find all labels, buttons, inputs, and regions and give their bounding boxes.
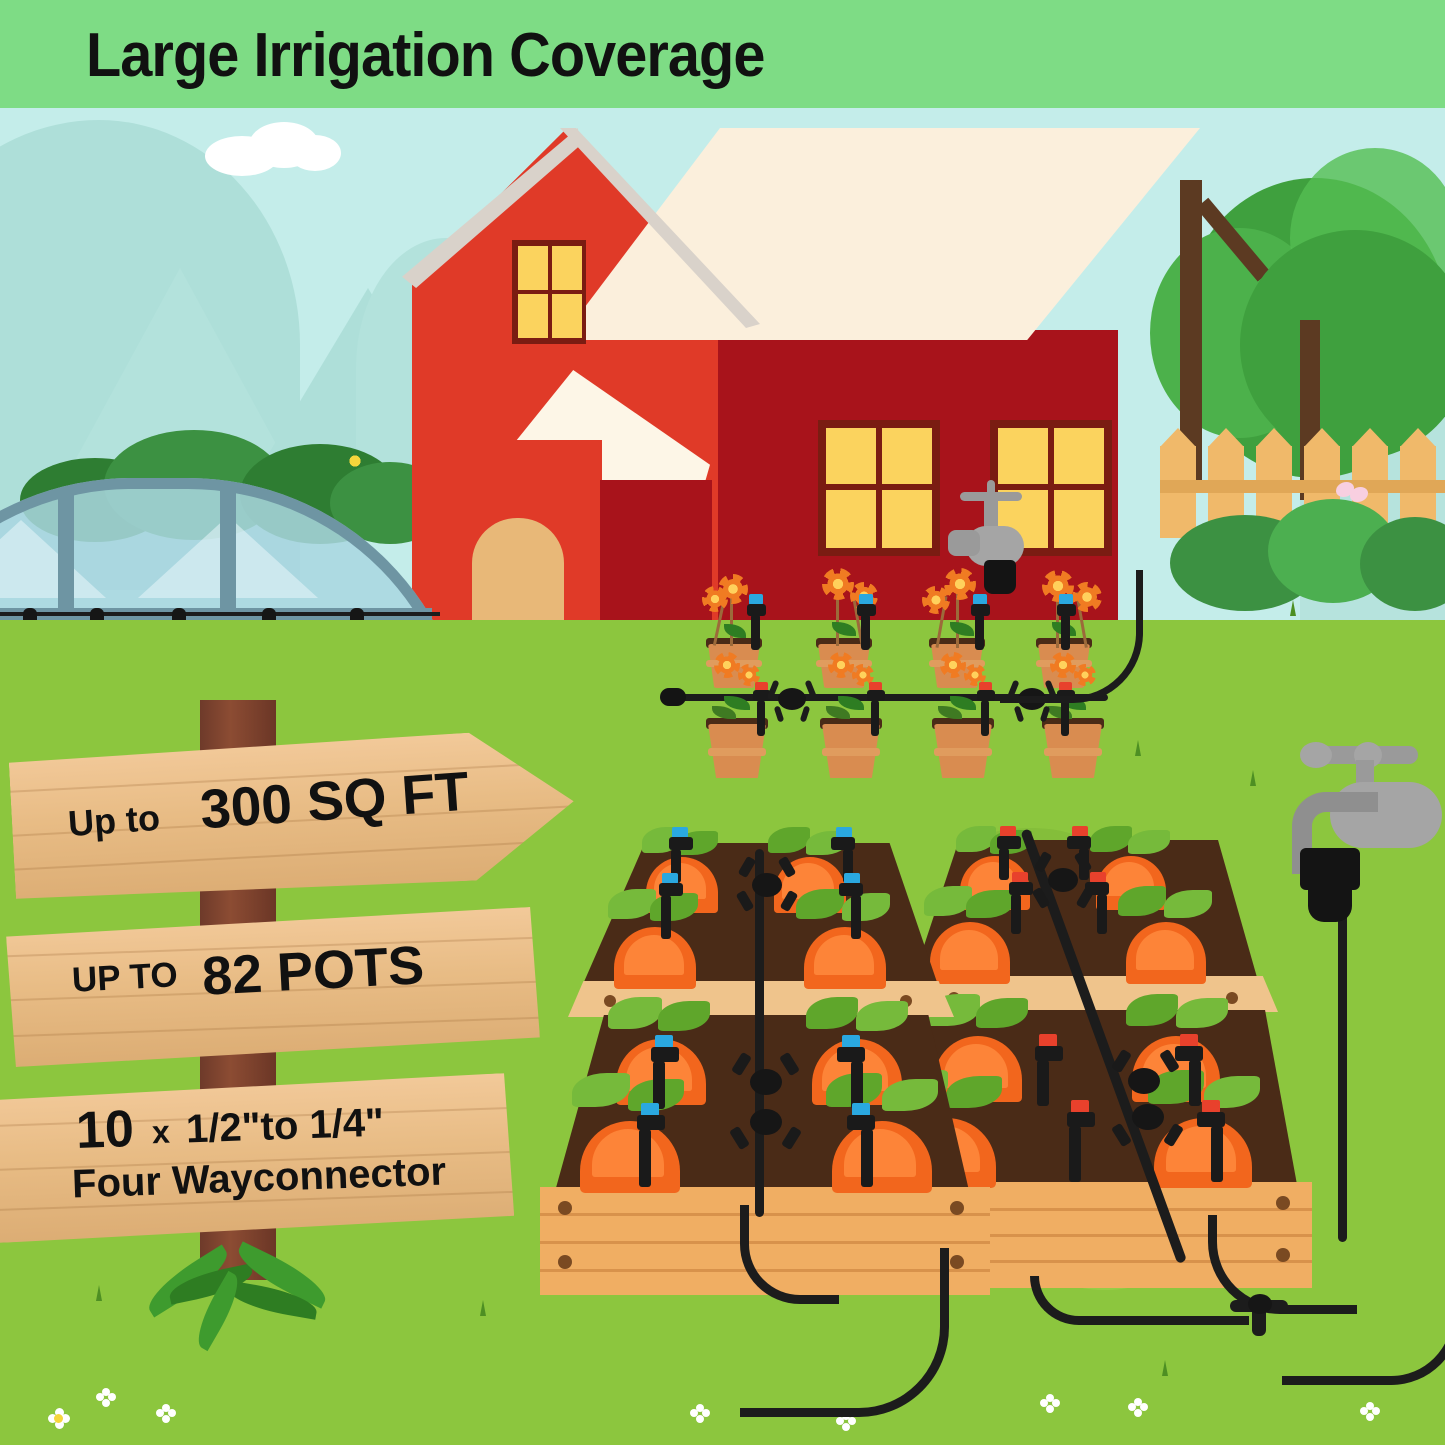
bush-under-fence [1170,495,1445,615]
front-door[interactable] [472,518,564,635]
hose-bottom-left-run [1030,1276,1249,1325]
garden-faucet-downpipe [1338,912,1347,1242]
pot-nozzle-back-1[interactable] [746,594,768,650]
nozzle-bed-left-l2[interactable] [836,1035,866,1109]
wall-faucet-wallmount [948,530,980,556]
hose-bottom-right-run [1282,1296,1445,1385]
nozzle-bed-right-l2[interactable] [1174,1034,1204,1106]
hose-t-connector[interactable] [1230,1280,1290,1336]
pot-row-end-cap [660,688,686,706]
cloud [205,122,340,176]
hose-bed-left-outlet [740,1248,949,1417]
infographic-canvas: Up to 300 SQ FT UP TO 82 POTS 10 x 1/2"t… [0,0,1445,1445]
nozzle-bed-left-l4[interactable] [846,1103,876,1187]
butterfly [1336,482,1370,504]
sign-value-pots: 82 POTS [201,934,426,1008]
nozzle-bed-left-l3[interactable] [636,1103,666,1187]
main-window-left-pane-br [882,490,932,548]
sign-quantity-connector: 10 [75,1099,135,1161]
four-way-connector-pot-row-1[interactable] [768,680,816,722]
nozzle-bed-right-u4[interactable] [1084,872,1110,934]
attic-window-pane-bl [518,294,548,338]
wall-faucet[interactable] [940,478,1050,598]
nozzle-bed-left-l1[interactable] [650,1035,680,1109]
nozzle-bed-left-u4[interactable] [838,873,864,939]
header-banner: Large Irrigation Coverage [0,0,1445,108]
pot-nozzle-back-2[interactable] [856,594,878,650]
daisy-6 [1040,1394,1060,1414]
garden-faucet-adapter-bottom [1308,882,1352,922]
sign-prefix-pots: UP TO [71,955,179,1000]
nozzle-bed-left-u3[interactable] [658,873,684,939]
main-window-right-pane-tr [1054,428,1104,484]
page-title: Large Irrigation Coverage [86,20,764,91]
sign-prefix-coverage: Up to [67,797,162,845]
main-window-right-pane-tl [998,428,1048,484]
pot-nozzle-front-3[interactable] [976,682,996,736]
carrot-plant-ru-4 [1112,886,1222,988]
nozzle-bed-right-l4[interactable] [1196,1100,1226,1182]
four-way-connector-bed-left-upper[interactable] [718,843,814,923]
greenhouse-mister-line [0,612,440,616]
main-window-left-pane-tr [882,428,932,484]
pot-nozzle-front-2[interactable] [866,682,886,736]
grass-tuft-1 [1290,600,1296,616]
daisy-7 [1128,1398,1148,1418]
sign-size-connector: 1/2"to 1/4" [185,1101,384,1153]
garden-faucet[interactable] [1278,716,1445,936]
daisy-8 [1360,1402,1380,1422]
main-window-left-pane-bl [826,490,876,548]
main-window-right-pane-br [1054,490,1104,548]
signpost: Up to 300 SQ FT UP TO 82 POTS 10 x 1/2"t… [0,700,640,1445]
wall-faucet-adapter[interactable] [984,560,1016,594]
wall-faucet-handle-stem [987,480,995,500]
attic-window-pane-br [552,294,582,338]
daisy-4 [690,1404,710,1424]
grass-tuft-8 [1162,1360,1168,1376]
four-way-connector-bed-left-lower[interactable] [716,1047,816,1157]
attic-window-pane-tr [552,246,582,290]
attic-window-pane-tl [518,246,548,290]
main-window-left-pane-tl [826,428,876,484]
grass-tuft-3 [1135,740,1141,756]
garden-faucet-handle-knob-left [1300,742,1332,768]
nozzle-bed-right-l3[interactable] [1066,1100,1096,1182]
pot-nozzle-back-3[interactable] [970,594,992,650]
sign-times-connector: x [151,1114,170,1152]
grass-tuft-2 [1250,770,1256,786]
